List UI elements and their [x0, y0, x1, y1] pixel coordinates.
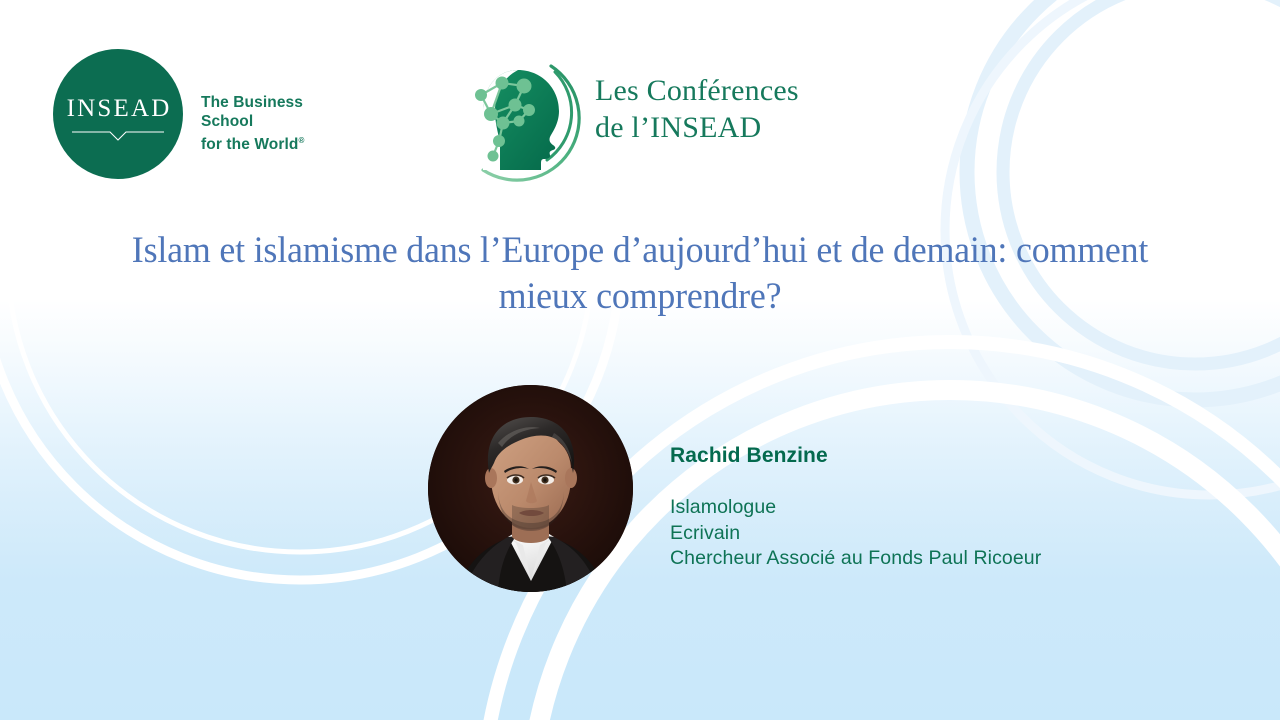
slide-header: INSEAD The Business School for the World…	[0, 0, 1280, 200]
conference-slide: INSEAD The Business School for the World…	[0, 0, 1280, 720]
portrait-photo	[428, 385, 633, 592]
insead-wordmark: INSEAD	[53, 96, 183, 121]
conferences-logo: Les Conférences de l’INSEAD	[443, 48, 863, 183]
brain-head-icon	[443, 48, 583, 188]
insead-logo: INSEAD The Business School for the World…	[53, 49, 353, 181]
speaker-info: Rachid Benzine Islamologue Ecrivain Cher…	[670, 443, 1230, 572]
insead-tagline-text: The Business School for the World	[201, 94, 303, 153]
insead-rule-icon	[72, 130, 164, 142]
avatar	[428, 385, 633, 592]
speaker-roles: Islamologue Ecrivain Chercheur Associé a…	[670, 495, 1230, 572]
page-title: Islam et islamisme dans l’Europe d’aujou…	[131, 228, 1150, 320]
speaker-name: Rachid Benzine	[670, 443, 1230, 469]
insead-registered-mark: ®	[298, 136, 304, 145]
conferences-logo-text: Les Conférences de l’INSEAD	[595, 72, 799, 146]
insead-tagline: The Business School for the World®	[201, 93, 353, 154]
